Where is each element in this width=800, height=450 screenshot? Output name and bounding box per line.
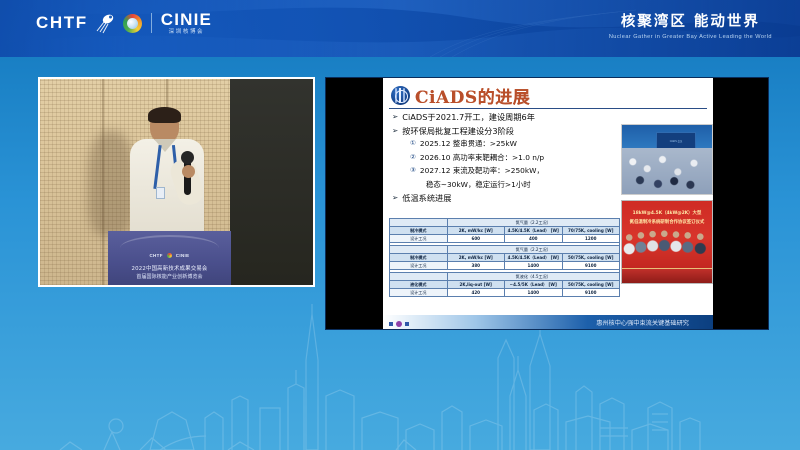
sub-item: ① 2025.12 整串贯通：>25kW [410,139,622,149]
table-cell-value: 400 [505,235,563,243]
podium-logo-group: CHTF CINIE [108,253,231,258]
table-group-header: 氦气量（2.2工况） [447,246,620,254]
conference-screen-caption: CiADS 会议 [657,139,695,143]
presentation-slide-panel[interactable]: CiADS的进展 ➢ CiADS于2021.7开工，建设周期6年 ➢ 按环保局批… [325,77,769,330]
speaker-hair [148,107,181,123]
bullet-marker: ➢ [392,112,398,122]
sub-item-text: 2027.12 束流及靶功率：>250kW， [420,166,544,176]
table-header-row: 制冷模式 2K, mW/kc [W] 4.5K/4.5K（Lead） [W] 7… [390,227,620,235]
table-cell-value: 9100 [562,289,620,297]
cinie-logo-group: CINIE 深圳核博会 [161,11,212,36]
table-header-cell: 液化模式 [390,281,448,289]
bullet-marker: ➢ [392,193,398,203]
bullet-text: 低温系统进展 [402,193,451,203]
table-header-cell: 4.5K/4.5K（Lead） [W] [505,227,563,235]
table-group-header: 氦气量（2.2工况） [447,219,620,227]
slide-title: CiADS的进展 [415,83,530,108]
table-header-cell: 50/75K, cooling [W] [562,254,620,262]
signing-ceremony-photo: 18kW@4.5K（4kW@2K）大型 氦低温制冷系统研制合作协议签订仪式 [621,200,713,284]
sub-item-text: 2026.10 高功率束靶耦合：>1.0 n/p [420,153,544,163]
slogan-english: Nuclear Gather in Greater Bay Active Lea… [609,34,772,40]
signing-group-photo-people [622,227,712,269]
cinie-logo-subtitle: 深圳核博会 [169,30,205,36]
table-header-cell: 2K,liq-out [W] [447,281,505,289]
table-header-cell: 制冷模式 [390,254,448,262]
title-underline [389,108,707,109]
slide-content: CiADS的进展 ➢ CiADS于2021.7开工，建设周期6年 ➢ 按环保局批… [383,78,713,329]
table-header-cell: 70/75K, cooling [W] [562,227,620,235]
circle-icon [396,321,402,327]
cinie-globe-icon [123,14,142,33]
cinie-logo-text: CINIE [161,11,212,28]
table-cell-value: 1200 [562,235,620,243]
table-row: 设计工况 420 1400 9100 [390,289,620,297]
sub-item-marker: ① [410,139,416,149]
atom-icon [391,86,410,105]
speaker-hand [182,165,195,178]
dark-wall-panel [230,79,315,285]
slide-footer-bar: 惠州核中心强中束流关键基础研究 [383,315,713,329]
table-header-row: 制冷模式 2K, mW/kc [W] 4.5K/4.5K（Lead） [W] 5… [390,254,620,262]
conference-audience [622,148,712,194]
sub-item-continuation: 稳态~30kW，稳定运行>1小时 [426,180,622,190]
table-row-label: 设计工况 [390,262,448,270]
chtf-logo-text: CHTF [36,13,88,33]
microphone-head [181,151,194,164]
table-cell-value: 9100 [562,262,620,270]
podium-title-line2: 首届国际核能产业创新博览会 [108,273,231,280]
table-cell-value: 600 [447,235,505,243]
logo-divider [151,13,152,33]
table-row-label: 设计工况 [390,235,448,243]
podium-chtf-text: CHTF [149,253,162,258]
sub-item: ③ 2027.12 束流及靶功率：>250kW， [410,166,622,176]
table-header-cell: 2K, mW/kc [W] [447,227,505,235]
square-icon [389,322,393,326]
conference-hall-photo: CiADS 会议 [621,124,713,195]
podium-title-line1: 2022中国高新技术成果交易会 [108,264,231,272]
table-header-row: 液化模式 2K,liq-out [W] ~4.5/5K（Lead） [W] 50… [390,281,620,289]
podium-cinie-text: CINIE [176,253,190,258]
speaker-figure [124,107,216,237]
sub-item: ② 2026.10 高功率束靶耦合：>1.0 n/p [410,153,622,163]
podium-globe-icon [167,253,172,258]
sub-item-marker: ② [410,153,416,163]
table-header-cell: ~4.5/5K（Lead） [W] [505,281,563,289]
table-cell-value: 1400 [505,289,563,297]
table-header-cell: 50/75K, cooling [W] [562,281,620,289]
slide-footer-decoration [389,321,409,327]
letterbox-left [326,78,383,329]
table-row: 设计工况 600 400 1200 [390,235,620,243]
brand-logos-group: CHTF CINIE 深圳核博会 [36,11,212,36]
bullet-item: ➢ 按环保局批复工程建设分3阶段 [392,126,622,136]
table-cell-value: 420 [447,289,505,297]
bullet-text: 按环保局批复工程建设分3阶段 [402,126,514,136]
sub-item-marker: ③ [410,166,416,176]
table-group-header-row: 氦液化（4.5工况） [390,273,620,281]
square-icon [405,322,409,326]
speaker-video-panel[interactable]: CHTF CINIE 2022中国高新技术成果交易会 首届国际核能产业创新博览会 [38,77,315,287]
table-header-cell: 制冷模式 [390,227,448,235]
event-header-banner: CHTF CINIE 深圳核博会 核聚湾区 能动世界 Nuclear Gathe… [0,0,800,57]
bullet-text: CiADS于2021.7开工，建设周期6年 [402,112,535,122]
table-cell-value: 380 [447,262,505,270]
bullet-item: ➢ 低温系统进展 [392,193,622,203]
table-header-cell: 2K, mW/kc [W] [447,254,505,262]
slogan-chinese: 核聚湾区 能动世界 [621,10,760,31]
cryogenic-spec-table: 氦气量（2.2工况） 制冷模式 2K, mW/kc [W] 4.5K/4.5K（… [389,218,620,297]
signing-banner-line1: 18kW@4.5K（4kW@2K）大型 [624,210,710,216]
slide-footer-text: 惠州核中心强中束流关键基础研究 [596,318,689,327]
table-row-label: 设计工况 [390,289,448,297]
table-group-header-row: 氦气量（2.2工况） [390,246,620,254]
table-group-header: 氦液化（4.5工况） [447,273,620,281]
signing-banner-line2: 氦低温制冷系统研制合作协议签订仪式 [624,219,710,225]
screen-root: CHTF CINIE 深圳核博会 核聚湾区 能动世界 Nuclear Gathe… [0,0,800,450]
event-slogan-group: 核聚湾区 能动世界 Nuclear Gather in Greater Bay … [609,10,772,40]
bullet-marker: ➢ [392,126,398,136]
slide-title-row: CiADS的进展 [383,82,713,108]
table-cell-blank [390,219,448,227]
cryogenic-spec-table-wrap: 氦气量（2.2工况） 制冷模式 2K, mW/kc [W] 4.5K/4.5K（… [389,218,620,297]
table-cell-blank [390,273,448,281]
slide-bullet-list: ➢ CiADS于2021.7开工，建设周期6年 ➢ 按环保局批复工程建设分3阶段… [392,112,622,207]
speaker-badge [156,187,165,199]
table-group-header-row: 氦气量（2.2工况） [390,219,620,227]
signing-table [622,268,712,283]
letterbox-right [711,78,768,329]
table-cell-blank [390,246,448,254]
table-header-cell: 4.5K/4.5K（Lead） [W] [505,254,563,262]
shuttlecock-icon [95,13,116,34]
table-cell-value: 1400 [505,262,563,270]
sub-item-text: 2025.12 整串贯通：>25kW [420,139,517,149]
bullet-item: ➢ CiADS于2021.7开工，建设周期6年 [392,112,622,122]
table-row: 设计工况 380 1400 9100 [390,262,620,270]
podium: CHTF CINIE 2022中国高新技术成果交易会 首届国际核能产业创新博览会 [108,231,231,287]
